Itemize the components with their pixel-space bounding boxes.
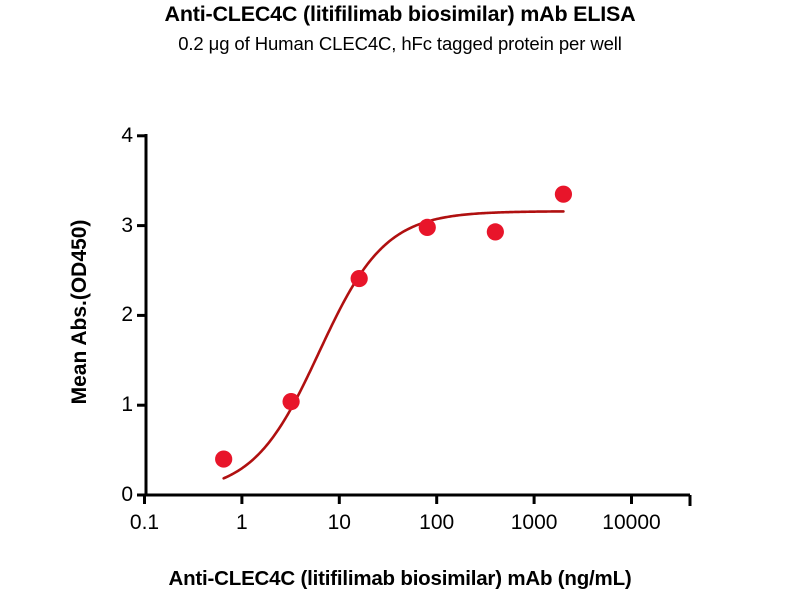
- y-tick-label: 4: [99, 125, 133, 146]
- data-point: [487, 223, 504, 240]
- data-point: [351, 270, 368, 287]
- fit-curve-layer: [224, 211, 564, 478]
- x-tick-label: 10: [328, 512, 351, 533]
- x-tick-label: 1000: [511, 512, 558, 533]
- x-axis-title: Anti-CLEC4C (litifilimab biosimilar) mAb…: [0, 567, 800, 591]
- chart-figure: Anti-CLEC4C (litifilimab biosimilar) mAb…: [0, 0, 800, 600]
- x-tick-label: 1: [236, 512, 248, 533]
- data-point: [215, 450, 232, 467]
- x-tick-label: 100: [419, 512, 454, 533]
- data-point: [419, 219, 436, 236]
- plot-area: 01234 0.1110100100010000: [0, 0, 800, 600]
- y-tick-label: 3: [99, 215, 133, 236]
- axes-layer: [137, 134, 690, 506]
- y-tick-label: 1: [99, 394, 133, 415]
- y-tick-label: 2: [99, 304, 133, 325]
- x-tick-label: 0.1: [130, 512, 159, 533]
- fit-curve: [224, 211, 564, 478]
- y-axis-title: Mean Abs.(OD450): [68, 152, 92, 472]
- y-tick-label: 0: [99, 484, 133, 505]
- x-tick-label: 10000: [602, 512, 660, 533]
- plot-canvas: [0, 0, 800, 600]
- data-points-layer: [215, 186, 572, 468]
- data-point: [283, 393, 300, 410]
- data-point: [555, 186, 572, 203]
